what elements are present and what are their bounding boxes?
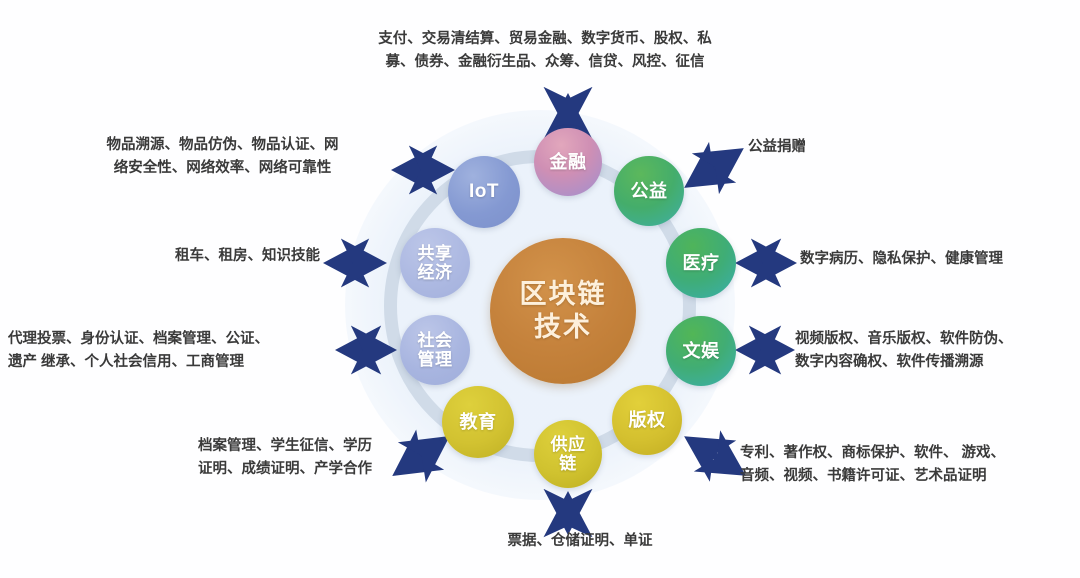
- label-supply: 票据、仓储证明、单证: [455, 530, 705, 553]
- node-medical-label: 医疗: [683, 253, 720, 273]
- node-charity-label: 公益: [631, 181, 668, 201]
- node-supply-chain[interactable]: 供应 链: [534, 420, 602, 488]
- node-sharing-label: 共享: [418, 244, 453, 263]
- label-iot: 物品溯源、物品仿伪、物品认证、网 络安全性、网络效率、网络可靠性: [60, 134, 385, 181]
- center-label-line2: 技术: [534, 311, 592, 344]
- node-culture[interactable]: 文娱: [666, 316, 736, 386]
- node-sharing-economy[interactable]: 共享 经济: [400, 228, 470, 298]
- node-education-label: 教育: [460, 412, 497, 432]
- label-finance: 支付、交易清结算、贸易金融、数字货币、股权、私 募、债券、金融衍生品、众筹、信贷…: [330, 28, 760, 75]
- node-society-management[interactable]: 社会 管理: [400, 315, 470, 385]
- node-supply-chain-label2: 链: [559, 454, 577, 473]
- node-finance-label: 金融: [550, 152, 587, 172]
- node-iot[interactable]: IoT: [448, 156, 520, 228]
- node-culture-label: 文娱: [683, 341, 720, 361]
- center-label-line1: 区块链: [520, 278, 607, 311]
- node-charity[interactable]: 公益: [614, 156, 684, 226]
- label-copyright: 专利、著作权、商标保护、软件、 游戏、 音频、视频、书籍许可证、艺术品证明: [740, 442, 1070, 489]
- label-education: 档案管理、学生征信、学历 证明、成绩证明、产学合作: [160, 435, 410, 482]
- arrow-copyright: [690, 440, 740, 472]
- node-society-label: 社会: [418, 331, 453, 350]
- node-copyright[interactable]: 版权: [612, 385, 682, 455]
- label-sharing: 租车、租房、知识技能: [90, 245, 320, 268]
- label-medical: 数字病历、隐私保护、健康管理: [800, 248, 1070, 271]
- node-society-label2: 管理: [418, 350, 453, 369]
- label-charity: 公益捐赠: [748, 136, 968, 159]
- blockchain-application-diagram: IoT 金融 公益 医疗 文娱 版权 供应 链 教育 社会 管理 共享 经济 区…: [0, 0, 1080, 578]
- node-sharing-label2: 经济: [418, 263, 453, 282]
- center-node-blockchain[interactable]: 区块链 技术: [490, 238, 636, 384]
- arrow-charity: [690, 152, 738, 184]
- node-iot-label: IoT: [469, 181, 499, 202]
- node-finance[interactable]: 金融: [534, 128, 602, 196]
- node-education[interactable]: 教育: [442, 386, 514, 458]
- node-medical[interactable]: 医疗: [666, 228, 736, 298]
- label-culture: 视频版权、音乐版权、软件防伪、 数字内容确权、软件传播溯源: [795, 328, 1065, 375]
- label-society: 代理投票、身份认证、档案管理、公证、 遗产 继承、个人社会信用、工商管理: [8, 328, 338, 375]
- node-supply-chain-label: 供应: [551, 435, 586, 454]
- node-copyright-label: 版权: [629, 410, 666, 430]
